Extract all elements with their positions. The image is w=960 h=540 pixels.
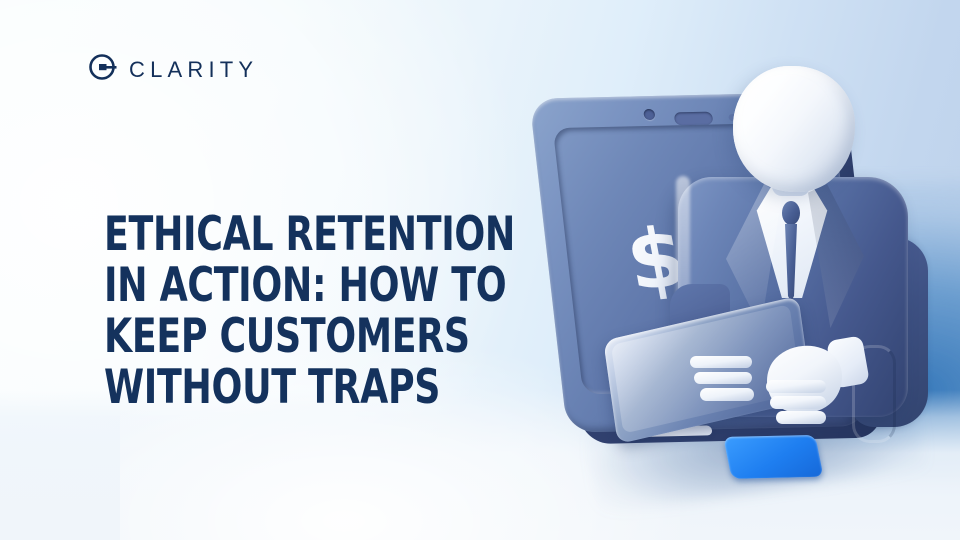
figure-left-hand [688,352,776,416]
headline-line-1: ETHICAL RETENTION [104,209,474,260]
blog-banner: CLARITY ETHICAL RETENTION IN ACTION: HOW… [0,0,960,540]
headline-line-3: KEEP CUSTOMERS [104,311,474,362]
page-title: ETHICAL RETENTION IN ACTION: HOW TO KEEP… [104,209,474,413]
figure-head [733,66,855,192]
hero-illustration: $ [520,52,960,512]
clarity-circle-arrow-icon [88,52,118,87]
brand-logo[interactable]: CLARITY [88,52,258,87]
headline-line-2: IN ACTION: HOW TO [104,260,474,311]
headline-line-4: WITHOUT TRAPS [104,362,474,413]
figure-tie [777,200,805,304]
businessman-figure [520,52,960,512]
brand-wordmark: CLARITY [129,58,258,81]
